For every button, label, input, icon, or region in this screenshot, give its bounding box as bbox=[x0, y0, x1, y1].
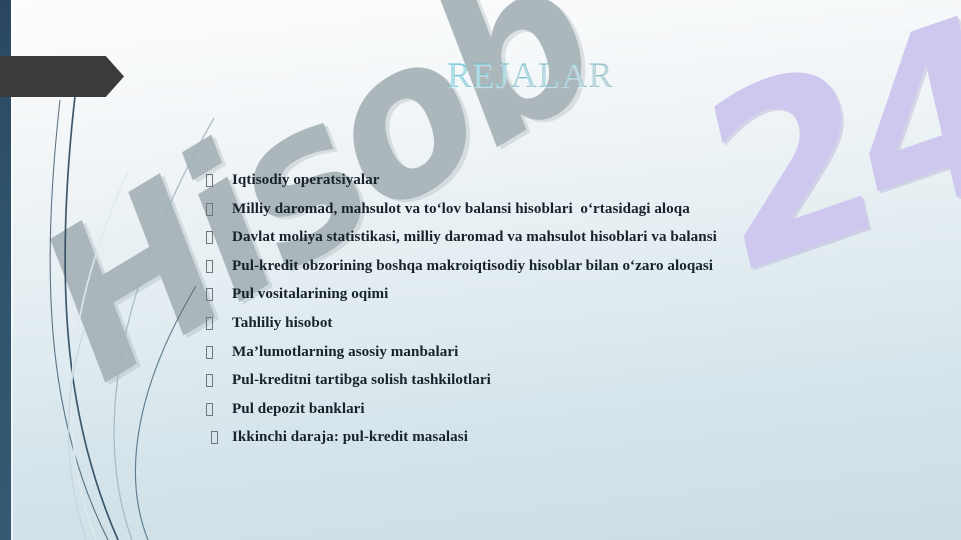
list-item-label: Pul vositalarining oqimi bbox=[232, 284, 388, 305]
list-item[interactable]: Ikkinchi daraja: pul-kredit masalasi bbox=[206, 427, 906, 456]
list-item[interactable]: Iqtisodiy operatsiyalar bbox=[206, 170, 906, 199]
bullet-box-icon bbox=[206, 284, 232, 307]
list-item-label: Milliy daromad, mahsulot va to‘lov balan… bbox=[232, 199, 690, 220]
bullet-box-icon bbox=[206, 313, 232, 336]
list-item-label: Pul-kreditni tartibga solish tashkilotla… bbox=[232, 370, 491, 391]
bullet-box-icon bbox=[206, 199, 232, 222]
list-item[interactable]: Tahliliy hisobot bbox=[206, 313, 906, 342]
list-item-label: Ma’lumotlarning asosiy manbalari bbox=[232, 342, 458, 363]
bullet-box-icon bbox=[206, 227, 232, 250]
list-item[interactable]: Davlat moliya statistikasi, milliy darom… bbox=[206, 227, 906, 256]
list-item-label: Pul-kredit obzorining boshqa makroiqtiso… bbox=[232, 256, 713, 277]
list-item[interactable]: Pul-kreditni tartibga solish tashkilotla… bbox=[206, 370, 906, 399]
bullet-box-icon bbox=[206, 427, 232, 450]
bullet-box-icon bbox=[206, 342, 232, 365]
bullet-box-icon bbox=[206, 170, 232, 193]
list-item-label: Iqtisodiy operatsiyalar bbox=[232, 170, 379, 191]
list-item[interactable]: Milliy daromad, mahsulot va to‘lov balan… bbox=[206, 199, 906, 228]
presentation-slide: Hisob 24 REJALAR Iqtisodiy operatsiyalar… bbox=[0, 0, 961, 540]
list-item-label: Tahliliy hisobot bbox=[232, 313, 333, 334]
agenda-list: Iqtisodiy operatsiyalar Milliy daromad, … bbox=[206, 170, 906, 456]
list-item[interactable]: Pul vositalarining oqimi bbox=[206, 284, 906, 313]
list-item[interactable]: Ma’lumotlarning asosiy manbalari bbox=[206, 342, 906, 371]
list-item-label: Pul depozit banklari bbox=[232, 399, 365, 420]
list-item-label: Davlat moliya statistikasi, milliy darom… bbox=[232, 227, 717, 248]
page-title: REJALAR bbox=[0, 54, 961, 96]
list-item[interactable]: Pul-kredit obzorining boshqa makroiqtiso… bbox=[206, 256, 906, 285]
list-item-label: Ikkinchi daraja: pul-kredit masalasi bbox=[232, 427, 468, 448]
bullet-box-icon bbox=[206, 256, 232, 279]
list-item[interactable]: Pul depozit banklari bbox=[206, 399, 906, 428]
bullet-box-icon bbox=[206, 399, 232, 422]
bullet-box-icon bbox=[206, 370, 232, 393]
